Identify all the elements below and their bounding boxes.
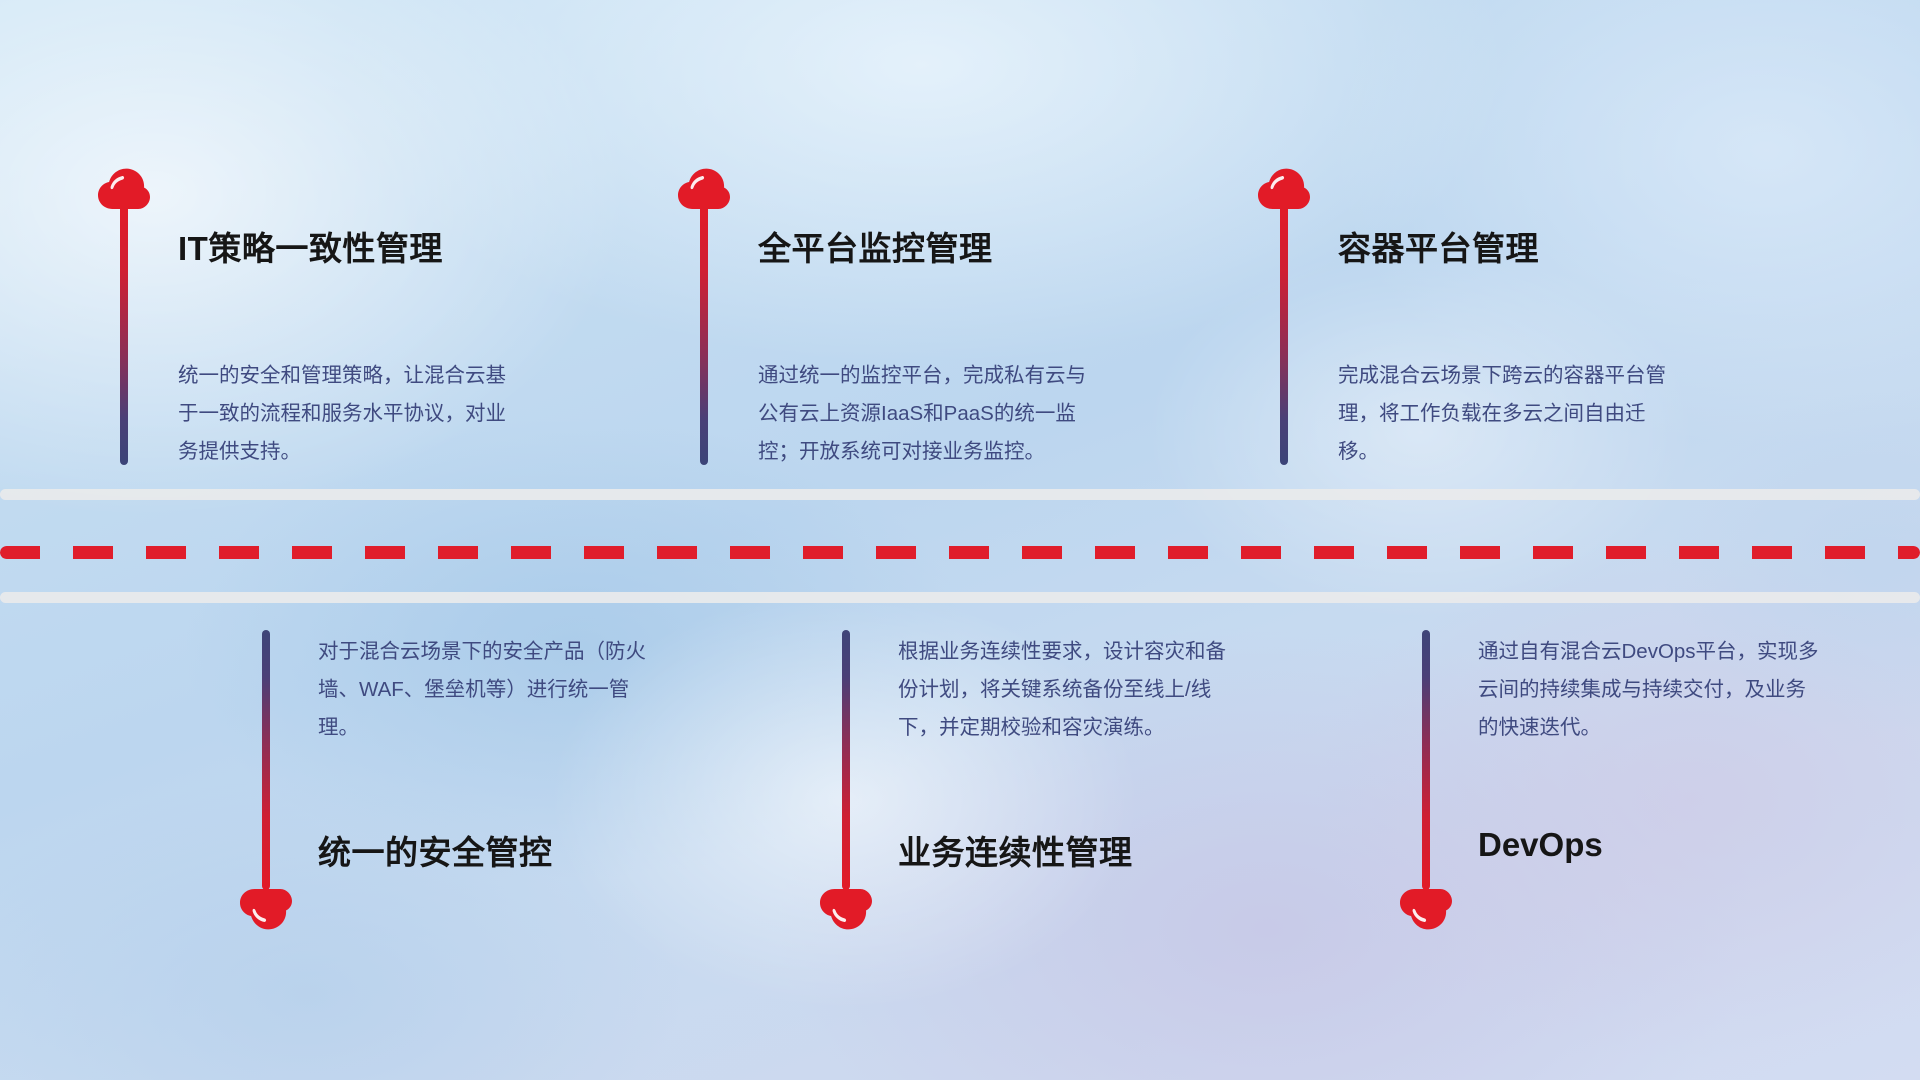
top-item-2-description: 通过统一的监控平台，完成私有云与公有云上资源IaaS和PaaS的统一监控；开放系… <box>758 357 1103 471</box>
connector-stem <box>262 630 270 890</box>
cloud-icon <box>818 888 874 936</box>
cloud-icon <box>238 888 294 936</box>
upper-solid-rule <box>0 489 1920 500</box>
connector-stem <box>700 205 708 465</box>
bottom-item-2-title: 业务连续性管理 <box>898 826 1133 874</box>
connector-stem <box>1422 630 1430 890</box>
cloud-icon <box>676 162 732 210</box>
bottom-item-3-title: DevOps <box>1478 826 1603 864</box>
top-item-3-description: 完成混合云场景下跨云的容器平台管理，将工作负载在多云之间自由迁移。 <box>1338 357 1683 471</box>
lower-solid-rule <box>0 592 1920 603</box>
top-item-1-title: IT策略一致性管理 <box>178 222 443 270</box>
bottom-item-2-description: 根据业务连续性要求，设计容灾和备份计划，将关键系统备份至线上/线下，并定期校验和… <box>898 633 1243 747</box>
cloud-icon <box>1256 162 1312 210</box>
top-item-1-description: 统一的安全和管理策略，让混合云基于一致的流程和服务水平协议，对业务提供支持。 <box>178 357 523 471</box>
top-item-2-title: 全平台监控管理 <box>758 222 993 270</box>
bottom-item-3-description: 通过自有混合云DevOps平台，实现多云间的持续集成与持续交付，及业务的快速迭代… <box>1478 633 1823 747</box>
connector-stem <box>842 630 850 890</box>
connector-stem <box>120 205 128 465</box>
bottom-item-1-title: 统一的安全管控 <box>318 826 553 874</box>
top-item-3-title: 容器平台管理 <box>1338 222 1539 270</box>
cloud-icon <box>96 162 152 210</box>
infographic-canvas: IT策略一致性管理 统一的安全和管理策略，让混合云基于一致的流程和服务水平协议，… <box>0 0 1920 1080</box>
connector-stem <box>1280 205 1288 465</box>
cloud-icon <box>1398 888 1454 936</box>
red-dashed-separator <box>0 546 1920 559</box>
bottom-item-1-description: 对于混合云场景下的安全产品（防火墙、WAF、堡垒机等）进行统一管理。 <box>318 633 663 747</box>
